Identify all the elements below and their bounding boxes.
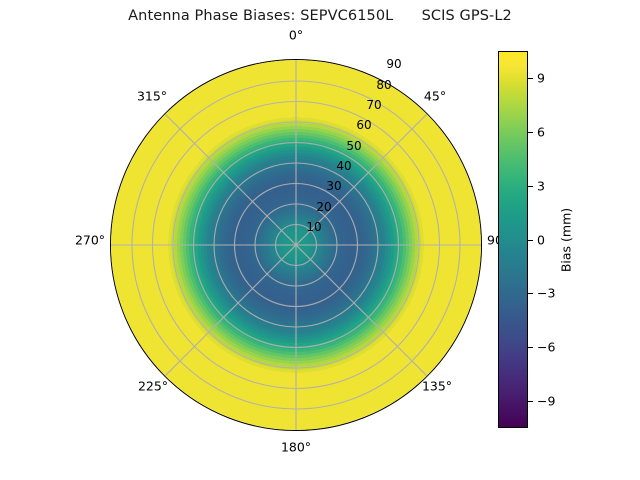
polar-data-disc	[110, 59, 482, 431]
colorbar-label-6: 6	[537, 124, 545, 139]
colorbar-label-neg6: −6	[537, 340, 555, 355]
colorbar-tick-9	[528, 78, 533, 79]
polar-angular-label-135: 135°	[422, 379, 452, 394]
polar-radial-label-90: 90	[386, 57, 401, 71]
colorbar-tick-3	[528, 186, 533, 187]
colorbar-label-0: 0	[537, 232, 545, 247]
page-title: Antenna Phase Biases: SEPVC6150L SCIS GP…	[0, 8, 640, 24]
polar-radial-label-60: 60	[356, 118, 371, 132]
colorbar-gradient	[499, 52, 527, 427]
polar-radial-label-10: 10	[306, 220, 321, 234]
polar-heatmap-fill	[111, 60, 481, 430]
polar-angular-label-0: 0°	[289, 28, 303, 43]
polar-radial-label-50: 50	[346, 139, 361, 153]
polar-angular-label-45: 45°	[424, 89, 446, 104]
colorbar-gradient-box	[498, 51, 528, 428]
polar-radial-label-80: 80	[376, 78, 391, 92]
colorbar-tick-neg6	[528, 347, 533, 348]
colorbar-tick-0	[528, 240, 533, 241]
polar-radial-label-30: 30	[326, 179, 341, 193]
colorbar-label-3: 3	[537, 178, 545, 193]
polar-angular-label-270: 270°	[75, 233, 105, 248]
colorbar: 9 6 3 0 −3 −6 −9	[498, 51, 528, 428]
colorbar-label-neg9: −9	[537, 394, 555, 409]
colorbar-tick-neg3	[528, 293, 533, 294]
colorbar-axis-label: Bias (mm)	[559, 208, 574, 272]
polar-axes: 0° 45° 90 135° 180° 225° 270° 315° 10 20…	[106, 55, 486, 435]
polar-angular-label-180: 180°	[281, 440, 311, 455]
polar-radial-label-40: 40	[336, 159, 351, 173]
colorbar-label-neg3: −3	[537, 286, 555, 301]
colorbar-label-9: 9	[537, 70, 545, 85]
polar-angular-label-315: 315°	[137, 89, 167, 104]
colorbar-tick-6	[528, 132, 533, 133]
colorbar-tick-neg9	[528, 401, 533, 402]
figure-canvas: Antenna Phase Biases: SEPVC6150L SCIS GP…	[0, 0, 640, 480]
polar-angular-label-225: 225°	[138, 379, 168, 394]
polar-radial-label-20: 20	[316, 200, 331, 214]
polar-radial-label-70: 70	[366, 98, 381, 112]
